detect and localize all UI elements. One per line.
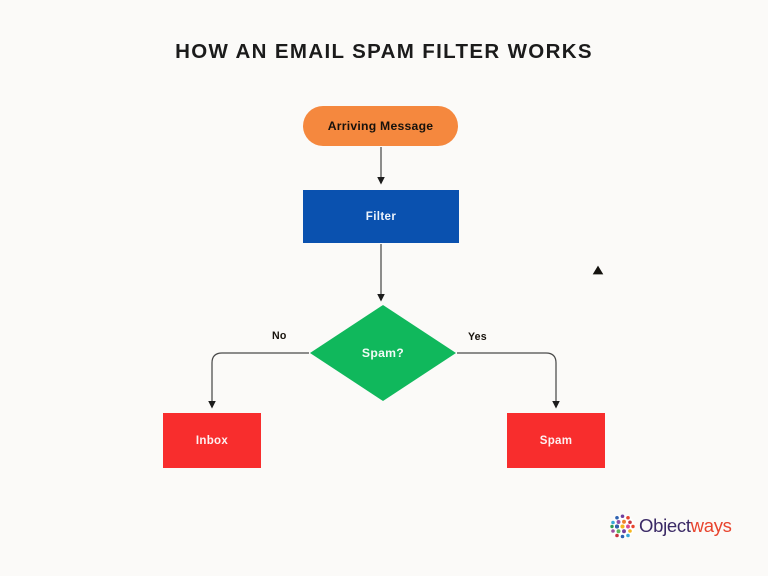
connector-layer [0,0,768,576]
node-arriving-message[interactable]: Arriving Message [303,106,458,146]
node-spam-folder-label: Spam [540,435,573,447]
stray-triangle-icon [592,265,604,275]
multicolor-sphere-icon [610,514,635,539]
logo-wordmark: Objectways [639,517,732,536]
flowchart-canvas: HOW AN EMAIL SPAM FILTER WORKS Arriving … [0,0,768,576]
node-inbox-label: Inbox [196,435,228,447]
logo-word-ways: ways [691,515,732,536]
edge-decision-to-spam [457,353,556,407]
node-filter[interactable]: Filter [303,190,459,243]
node-spam-decision[interactable]: Spam? [310,305,456,401]
node-filter-label: Filter [366,210,396,223]
edge-label-no: No [272,330,287,342]
page-title: HOW AN EMAIL SPAM FILTER WORKS [0,40,768,64]
node-inbox[interactable]: Inbox [163,413,261,468]
logo-word-object: Object [639,515,691,536]
edge-decision-to-inbox [212,353,309,407]
edge-label-yes: Yes [468,331,487,343]
node-arriving-message-label: Arriving Message [328,119,434,133]
objectways-logo: Objectways [610,512,732,540]
node-spam-folder[interactable]: Spam [507,413,605,468]
node-spam-decision-label: Spam? [362,346,404,360]
